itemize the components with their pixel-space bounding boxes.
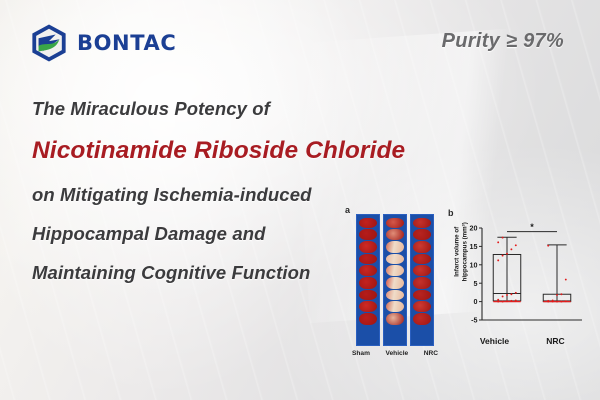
purity-badge: Purity ≥ 97% xyxy=(442,30,564,53)
brain-slice xyxy=(413,290,430,300)
brain-slice-group-labels: ShamVehicleNRC xyxy=(352,350,438,357)
brain-slice-column xyxy=(410,214,434,346)
brain-slice xyxy=(386,254,403,264)
y-axis-tick-label: 20 xyxy=(470,224,478,233)
brain-slice xyxy=(359,229,376,240)
x-axis-tick-label: Vehicle xyxy=(464,336,525,346)
significance-asterisk: * xyxy=(530,222,534,232)
brand-logo: BONTAC xyxy=(30,23,176,63)
y-axis-tick-label: 10 xyxy=(470,260,478,269)
research-figure: a ShamVehicleNRC b Infarct volume of hip… xyxy=(344,200,592,372)
x-axis-labels: VehicleNRC xyxy=(464,336,586,346)
brain-slice xyxy=(359,290,376,300)
brain-slice xyxy=(359,241,376,253)
brain-slice xyxy=(386,301,403,312)
boxplot-svg: 20151050-5* xyxy=(460,222,586,334)
brain-slice xyxy=(386,265,403,276)
headline-line-5: Maintaining Cognitive Function xyxy=(32,262,382,284)
brain-slice-group-label: Vehicle xyxy=(385,350,408,357)
brain-slice xyxy=(413,218,430,228)
brain-slice-group-label: Sham xyxy=(352,350,370,357)
headline-line-3: on Mitigating Ischemia-induced xyxy=(32,184,382,206)
headline-block: The Miraculous Potency of Nicotinamide R… xyxy=(32,98,382,301)
y-axis-tick-label: 15 xyxy=(470,242,478,251)
brain-slice xyxy=(386,229,403,240)
brain-slice xyxy=(359,313,376,325)
headline-line-4: Hippocampal Damage and xyxy=(32,223,382,245)
brain-slice xyxy=(359,265,376,276)
y-axis-tick-label: 5 xyxy=(474,279,478,288)
y-axis-tick-label: -5 xyxy=(471,316,477,325)
x-axis-tick-label: NRC xyxy=(525,336,586,346)
brain-slice-column xyxy=(356,214,380,346)
panel-a-label: a xyxy=(345,205,350,215)
brain-slice xyxy=(413,229,430,240)
brain-slice-panel xyxy=(356,214,434,346)
brain-slice xyxy=(413,301,430,312)
brain-slice xyxy=(359,301,376,312)
brain-slice xyxy=(413,277,430,289)
brain-slice-group-label: NRC xyxy=(424,350,438,357)
boxplot-panel: b Infarct volume of hippocampus (mm³) 20… xyxy=(442,204,592,370)
brain-slice xyxy=(413,313,430,325)
brain-slice xyxy=(359,277,376,289)
brain-slice xyxy=(413,265,430,276)
headline-line-2: Nicotinamide Riboside Chloride xyxy=(32,137,382,165)
hexagon-swoosh-logo-icon xyxy=(30,23,68,63)
brain-slice xyxy=(359,254,376,264)
boxplot-box xyxy=(493,237,521,303)
promotional-banner: BONTAC Purity ≥ 97% The Miraculous Poten… xyxy=(0,0,600,400)
headline-line-1: The Miraculous Potency of xyxy=(32,98,382,120)
brain-slice xyxy=(386,277,403,289)
brand-name: BONTAC xyxy=(77,31,176,55)
y-axis-tick-label: 0 xyxy=(474,297,478,306)
boxplot-box xyxy=(543,245,571,303)
brain-slice xyxy=(413,241,430,253)
brain-slice xyxy=(413,254,430,264)
brain-slice xyxy=(386,290,403,300)
brain-slice xyxy=(359,218,376,228)
brain-slice xyxy=(386,241,403,253)
brain-slice-column xyxy=(383,214,407,346)
brain-slice xyxy=(386,313,403,325)
brain-slice xyxy=(386,218,403,228)
